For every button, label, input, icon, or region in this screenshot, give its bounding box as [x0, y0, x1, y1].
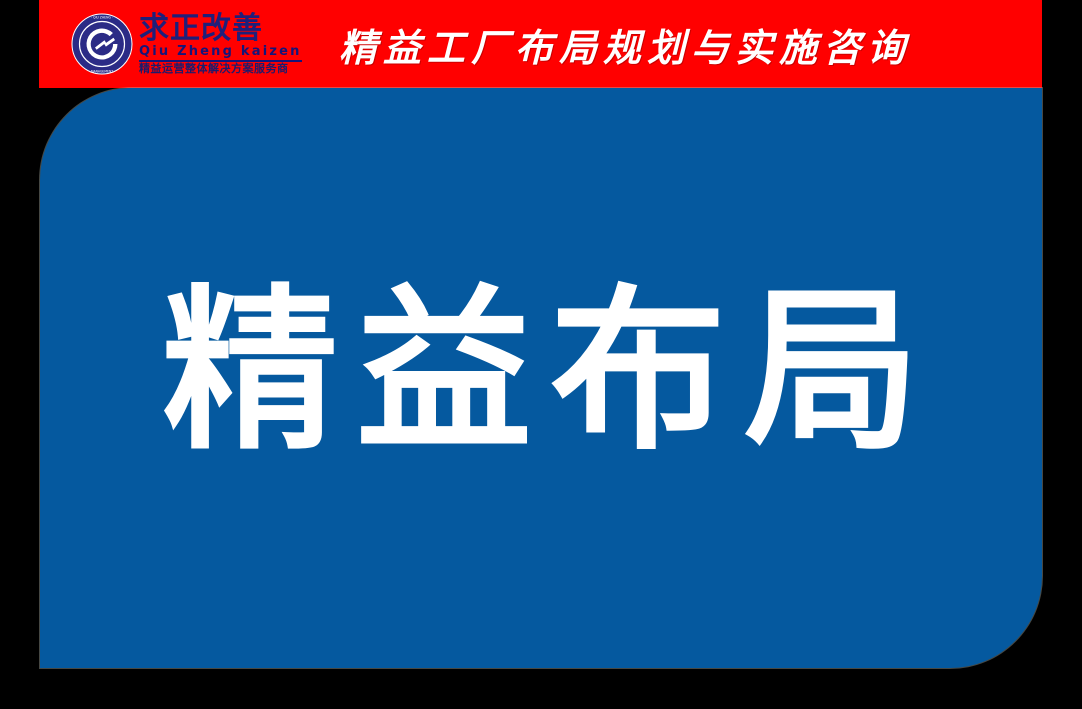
svg-text:MANAGEMENT: MANAGEMENT: [91, 69, 113, 73]
svg-text:· QIU ZHENG ·: · QIU ZHENG ·: [91, 15, 113, 19]
presentation-slide: · QIU ZHENG · MANAGEMENT 求正改善 Qiu Zheng …: [0, 0, 1082, 709]
company-logo-text: 求正改善 Qiu Zheng kaizen 精益运营整体解决方案服务商: [139, 13, 302, 76]
company-tagline: 精益运营整体解决方案服务商: [139, 63, 302, 75]
slide-body-panel: 精益布局: [40, 88, 1042, 668]
slide-main-title: 精益布局: [144, 284, 938, 460]
company-name-cn: 求正改善: [139, 13, 302, 45]
qiuzheng-circular-emblem-icon: · QIU ZHENG · MANAGEMENT: [71, 13, 133, 75]
company-name-en: Qiu Zheng kaizen: [139, 45, 302, 58]
company-logo: · QIU ZHENG · MANAGEMENT 求正改善 Qiu Zheng …: [71, 4, 302, 84]
course-title: 精益工厂布局规划与实施咨询: [339, 0, 911, 88]
slide-header-band: · QIU ZHENG · MANAGEMENT 求正改善 Qiu Zheng …: [39, 0, 1042, 88]
